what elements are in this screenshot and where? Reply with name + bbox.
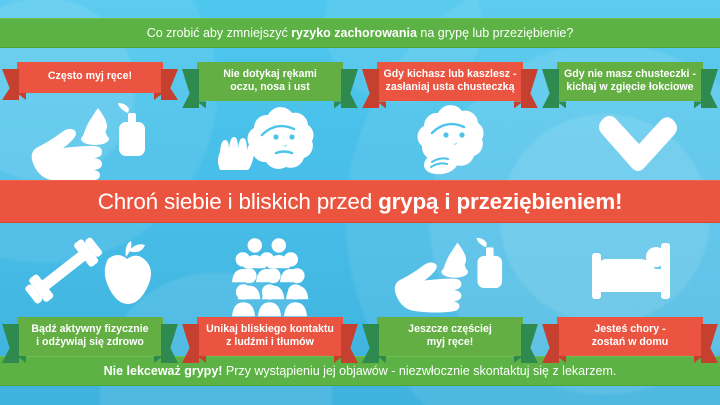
ribbon-tail-right <box>341 69 358 108</box>
ribbon-tail-left <box>2 324 19 363</box>
elbow-sneeze-icon <box>540 101 720 180</box>
ribbon-label: Gdy nie masz chusteczki -kichaj w zgięci… <box>564 68 696 94</box>
footer-text-bold: Nie lekceważ grypy! <box>104 364 223 378</box>
ribbon-tail-left <box>362 69 379 108</box>
advice-card-cover-mouth[interactable]: Gdy kichasz lub kaszlesz -zasłaniaj usta… <box>360 62 540 180</box>
ribbon-banner: Unikaj bliskiego kontaktuz ludźmi i tłum… <box>197 317 343 356</box>
ribbon-label-line1: Gdy nie masz chusteczki - <box>564 68 696 80</box>
advice-card-avoid-crowds[interactable]: Unikaj bliskiego kontaktuz ludźmi i tłum… <box>180 228 360 356</box>
face-cover-mouth-icon <box>360 101 540 180</box>
ribbon-banner: Gdy nie masz chusteczki -kichaj w zgięci… <box>557 62 703 101</box>
ribbon-label: Często myj ręce! <box>48 70 132 83</box>
ribbon-label-line1: Często myj ręce! <box>48 70 132 82</box>
ribbon-label: Jesteś chory -zostań w domu <box>592 323 669 349</box>
ribbon-tail-left <box>542 69 559 108</box>
header-banner-text: Co zrobić aby zmniejszyć ryzyko zachorow… <box>137 26 584 40</box>
header-banner: Co zrobić aby zmniejszyć ryzyko zachorow… <box>0 18 720 48</box>
ribbon-tail-right <box>701 69 718 108</box>
ribbon-label-line1: Nie dotykaj rękami <box>223 68 317 80</box>
ribbon-label-line2: oczu, nosa i ust <box>230 81 309 93</box>
ribbon-banner: Bądź aktywny fizyczniei odżywiaj się zdr… <box>17 317 163 356</box>
dumbbell-apple-icon <box>0 228 180 317</box>
ribbon-label-line2: myj ręce! <box>427 336 474 348</box>
hand-washing-icon <box>0 93 180 180</box>
ribbon-tail-right <box>521 69 538 108</box>
bed-rest-icon <box>540 228 720 317</box>
ribbon-tail-left <box>182 69 199 108</box>
slogan-text-before: Chroń siebie i bliskich przed <box>98 189 378 214</box>
main-slogan-text: Chroń siebie i bliskich przed grypą i pr… <box>88 189 633 215</box>
face-no-touch-icon <box>180 101 360 180</box>
footer-banner-text: Nie lekceważ grypy! Przy wystąpieniu jej… <box>94 364 627 378</box>
ribbon-label-line2: zostań w domu <box>592 336 669 348</box>
ribbon-label: Jeszcze częściejmyj ręce! <box>408 323 492 349</box>
advice-card-stay-home[interactable]: Jesteś chory -zostań w domu <box>540 228 720 356</box>
slogan-text-bold: grypą i przeziębieniem! <box>378 189 622 214</box>
footer-text-after: Przy wystąpieniu jej objawów - niezwłocz… <box>222 364 616 378</box>
header-text-after: na grypę lub przeziębienie? <box>417 26 573 40</box>
infographic-poster: Co zrobić aby zmniejszyć ryzyko zachorow… <box>0 0 720 405</box>
ribbon-banner: Nie dotykaj rękamioczu, nosa i ust <box>197 62 343 101</box>
ribbon-label-line2: i odżywiaj się zdrowo <box>36 336 144 348</box>
footer-banner: Nie lekceważ grypy! Przy wystąpieniu jej… <box>0 356 720 386</box>
ribbon-label-line1: Jesteś chory - <box>594 323 665 335</box>
advice-card-no-touch-face[interactable]: Nie dotykaj rękamioczu, nosa i ust <box>180 62 360 180</box>
ribbon-label-line1: Gdy kichasz lub kaszlesz - <box>383 68 516 80</box>
ribbon-label: Nie dotykaj rękamioczu, nosa i ust <box>223 68 317 94</box>
bottom-advice-row: Bądź aktywny fizyczniei odżywiaj się zdr… <box>0 228 720 356</box>
ribbon-banner: Jesteś chory -zostań w domu <box>557 317 703 356</box>
ribbon-tail-right <box>521 324 538 363</box>
ribbon-banner: Często myj ręce! <box>17 62 163 93</box>
ribbon-banner: Jeszcze częściejmyj ręce! <box>377 317 523 356</box>
advice-card-elbow-sneeze[interactable]: Gdy nie masz chusteczki -kichaj w zgięci… <box>540 62 720 180</box>
ribbon-tail-left <box>182 324 199 363</box>
top-advice-row: Często myj ręce! <box>0 62 720 180</box>
crowd-people-icon <box>180 228 360 317</box>
ribbon-tail-left <box>362 324 379 363</box>
ribbon-label: Gdy kichasz lub kaszlesz -zasłaniaj usta… <box>383 68 516 94</box>
header-text-before: Co zrobić aby zmniejszyć <box>147 26 292 40</box>
ribbon-label-line1: Bądź aktywny fizycznie <box>31 323 148 335</box>
advice-card-wash-hands[interactable]: Często myj ręce! <box>0 62 180 180</box>
ribbon-label-line1: Unikaj bliskiego kontaktu <box>206 323 334 335</box>
ribbon-tail-right <box>161 69 178 100</box>
hand-washing-icon <box>360 228 540 317</box>
advice-card-activity-diet[interactable]: Bądź aktywny fizyczniei odżywiaj się zdr… <box>0 228 180 356</box>
ribbon-label-line1: Jeszcze częściej <box>408 323 492 335</box>
ribbon-tail-left <box>542 324 559 363</box>
ribbon-label-line2: z ludźmi i tłumów <box>226 336 314 348</box>
ribbon-label: Bądź aktywny fizyczniei odżywiaj się zdr… <box>31 323 148 349</box>
header-text-bold: ryzyko zachorowania <box>291 26 417 40</box>
ribbon-label: Unikaj bliskiego kontaktuz ludźmi i tłum… <box>206 323 334 349</box>
ribbon-tail-right <box>341 324 358 363</box>
main-slogan-banner: Chroń siebie i bliskich przed grypą i pr… <box>0 180 720 223</box>
ribbon-tail-right <box>701 324 718 363</box>
ribbon-label-line2: zasłaniaj usta chusteczką <box>386 81 515 93</box>
ribbon-tail-left <box>2 69 19 100</box>
ribbon-tail-right <box>161 324 178 363</box>
ribbon-banner: Gdy kichasz lub kaszlesz -zasłaniaj usta… <box>377 62 523 101</box>
ribbon-label-line2: kichaj w zgięcie łokciowe <box>566 81 693 93</box>
advice-card-wash-hands-more[interactable]: Jeszcze częściejmyj ręce! <box>360 228 540 356</box>
